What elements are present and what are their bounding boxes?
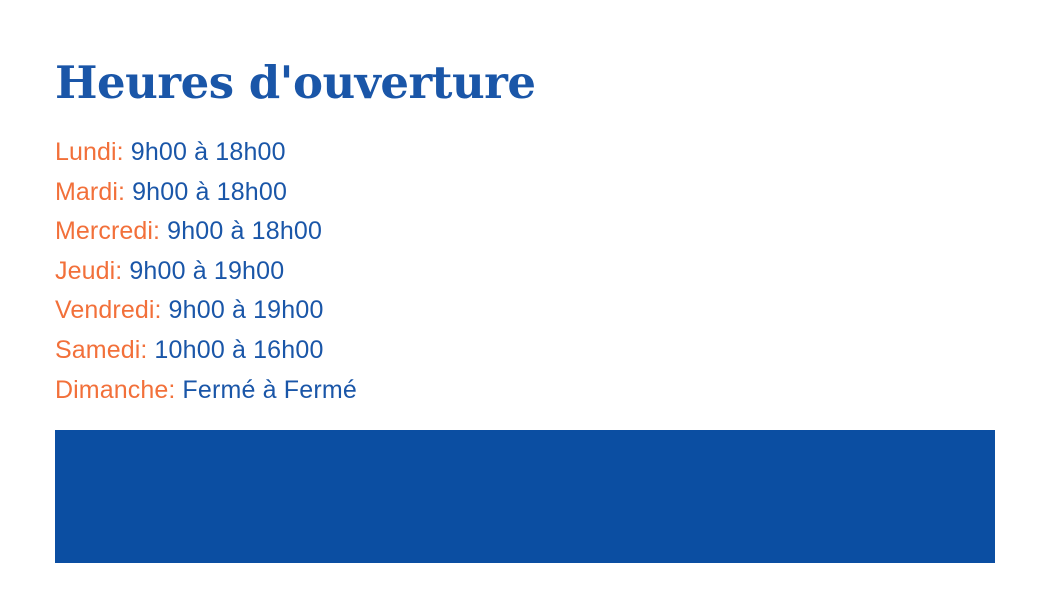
close-time: 19h00 bbox=[253, 296, 324, 324]
day-hours: 9h00à18h00 bbox=[132, 178, 287, 206]
open-time: 9h00 bbox=[169, 296, 225, 324]
time-separator: à bbox=[224, 212, 252, 252]
close-time: 18h00 bbox=[252, 217, 323, 245]
list-item: Mercredi:9h00à18h00 bbox=[55, 212, 357, 252]
time-separator: à bbox=[225, 291, 253, 331]
time-separator: à bbox=[186, 252, 214, 292]
list-item: Lundi:9h00à18h00 bbox=[55, 133, 357, 173]
list-item: Jeudi:9h00à19h00 bbox=[55, 252, 357, 292]
day-label: Vendredi: bbox=[55, 296, 162, 324]
open-time: 10h00 bbox=[154, 336, 225, 364]
opening-hours-list: Lundi:9h00à18h00 Mardi:9h00à18h00 Mercre… bbox=[55, 133, 357, 410]
close-time: Fermé bbox=[284, 376, 357, 404]
day-hours: 9h00à19h00 bbox=[169, 296, 324, 324]
open-time: 9h00 bbox=[167, 217, 223, 245]
day-label: Lundi: bbox=[55, 138, 124, 166]
page-title: Heures d'ouverture bbox=[55, 57, 536, 109]
day-hours: 9h00à19h00 bbox=[129, 257, 284, 285]
list-item: Dimanche:FerméàFermé bbox=[55, 371, 357, 411]
bottom-blue-band bbox=[55, 430, 995, 563]
close-time: 18h00 bbox=[215, 138, 286, 166]
open-time: Fermé bbox=[182, 376, 255, 404]
close-time: 19h00 bbox=[214, 257, 285, 285]
day-hours: FerméàFermé bbox=[182, 376, 357, 404]
hours-page: Heures d'ouverture Lundi:9h00à18h00 Mard… bbox=[0, 0, 1050, 600]
list-item: Samedi:10h00à16h00 bbox=[55, 331, 357, 371]
list-item: Mardi:9h00à18h00 bbox=[55, 173, 357, 213]
open-time: 9h00 bbox=[131, 138, 187, 166]
day-label: Mardi: bbox=[55, 178, 125, 206]
time-separator: à bbox=[256, 371, 284, 411]
open-time: 9h00 bbox=[132, 178, 188, 206]
day-label: Samedi: bbox=[55, 336, 147, 364]
day-hours: 10h00à16h00 bbox=[154, 336, 323, 364]
open-time: 9h00 bbox=[129, 257, 185, 285]
time-separator: à bbox=[188, 173, 216, 213]
day-label: Jeudi: bbox=[55, 257, 122, 285]
time-separator: à bbox=[187, 133, 215, 173]
list-item: Vendredi:9h00à19h00 bbox=[55, 291, 357, 331]
time-separator: à bbox=[225, 331, 253, 371]
day-label: Mercredi: bbox=[55, 217, 160, 245]
day-hours: 9h00à18h00 bbox=[131, 138, 286, 166]
day-hours: 9h00à18h00 bbox=[167, 217, 322, 245]
close-time: 18h00 bbox=[217, 178, 288, 206]
day-label: Dimanche: bbox=[55, 376, 175, 404]
close-time: 16h00 bbox=[253, 336, 324, 364]
